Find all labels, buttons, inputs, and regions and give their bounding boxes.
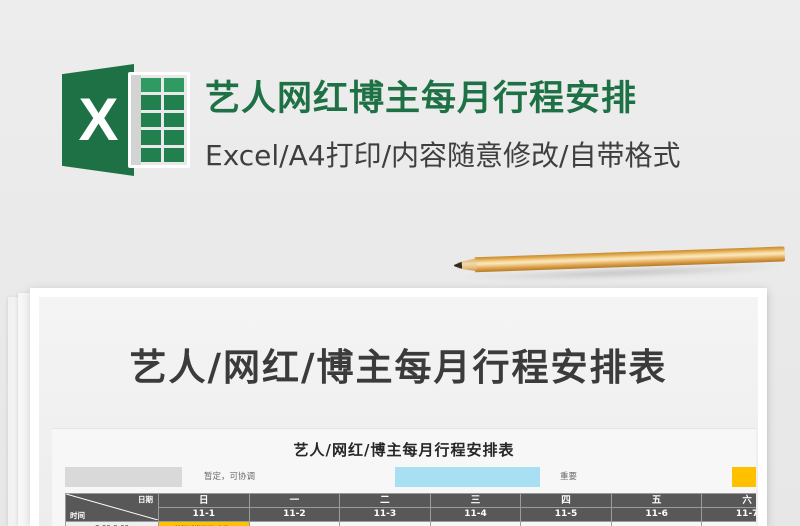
date-header-2: 11-3 <box>340 508 431 522</box>
cell-0-4[interactable] <box>521 522 612 526</box>
table-row[interactable]: 8:00-9:00 拍摄时尚硬照(上海) <box>66 522 757 526</box>
hero-banner: X 艺人网红博主每月行程安排 Excel/A4打印/内容随意修改/自带格式 <box>0 0 800 232</box>
table-header-date-row: 11-1 11-2 11-3 11-4 11-5 11-6 11-7 <box>66 508 757 522</box>
corner-time-label: 时间 <box>70 510 85 521</box>
cell-0-5[interactable] <box>611 522 702 526</box>
spreadsheet-panel: 艺人/网红/博主每月行程安排表 暂定，可协调 重要 已确定，不可协调 <box>52 428 756 526</box>
document-page: 艺人/网红/博主每月行程安排表 艺人/网红/博主每月行程安排表 暂定，可协调 重… <box>39 297 758 526</box>
excel-logo-icon: X <box>62 58 190 182</box>
spreadsheet-title: 艺人/网红/博主每月行程安排表 <box>52 429 756 460</box>
table-header-weekday-row: 日期 时间 日 一 二 三 四 五 六 <box>66 494 757 508</box>
date-header-6: 11-7 <box>702 508 756 522</box>
hero-subtitle: Excel/A4打印/内容随意修改/自带格式 <box>205 134 680 174</box>
excel-logo-grid-sidebar <box>131 75 141 165</box>
legend-row: 暂定，可协调 重要 已确定，不可协调 <box>52 467 756 487</box>
weekday-header-6: 六 <box>702 494 756 508</box>
legend-swatch-tentative <box>65 467 182 487</box>
hero-title: 艺人网红博主每月行程安排 <box>205 70 637 121</box>
weekday-header-5: 五 <box>611 494 702 508</box>
cell-0-2[interactable] <box>340 522 431 526</box>
document-preview-card[interactable]: 艺人/网红/博主每月行程安排表 艺人/网红/博主每月行程安排表 暂定，可协调 重… <box>30 288 767 526</box>
cell-0-1[interactable] <box>249 522 340 526</box>
weekday-header-2: 二 <box>340 494 431 508</box>
weekday-header-0: 日 <box>159 494 250 508</box>
date-header-0: 11-1 <box>159 508 250 522</box>
weekday-header-4: 四 <box>521 494 612 508</box>
corner-date-label: 日期 <box>138 494 153 505</box>
date-header-1: 11-2 <box>249 508 340 522</box>
cell-0-6[interactable] <box>702 522 756 526</box>
date-header-3: 11-4 <box>430 508 521 522</box>
date-header-5: 11-6 <box>611 508 702 522</box>
cell-0-0[interactable]: 拍摄时尚硬照(上海) <box>159 522 250 526</box>
legend-label-important: 重要 <box>560 470 577 482</box>
excel-logo-grid <box>128 72 190 168</box>
document-heading: 艺人/网红/博主每月行程安排表 <box>39 337 758 391</box>
table-corner-cell: 日期 时间 <box>66 494 159 522</box>
excel-logo-grid-cells <box>141 75 187 165</box>
row-time-label: 8:00-9:00 <box>66 522 159 526</box>
excel-logo-letter: X <box>62 64 134 176</box>
screenshot-stage: X 艺人网红博主每月行程安排 Excel/A4打印/内容随意修改/自带格式 <box>0 0 800 526</box>
legend-swatch-confirmed <box>732 467 756 487</box>
legend-swatch-important <box>395 467 540 487</box>
date-header-4: 11-5 <box>521 508 612 522</box>
weekday-header-1: 一 <box>249 494 340 508</box>
weekday-header-3: 三 <box>430 494 521 508</box>
legend-label-tentative: 暂定，可协调 <box>204 470 255 482</box>
schedule-table[interactable]: 日期 时间 日 一 二 三 四 五 六 11-1 11-2 1 <box>65 493 756 526</box>
cell-0-3[interactable] <box>430 522 521 526</box>
